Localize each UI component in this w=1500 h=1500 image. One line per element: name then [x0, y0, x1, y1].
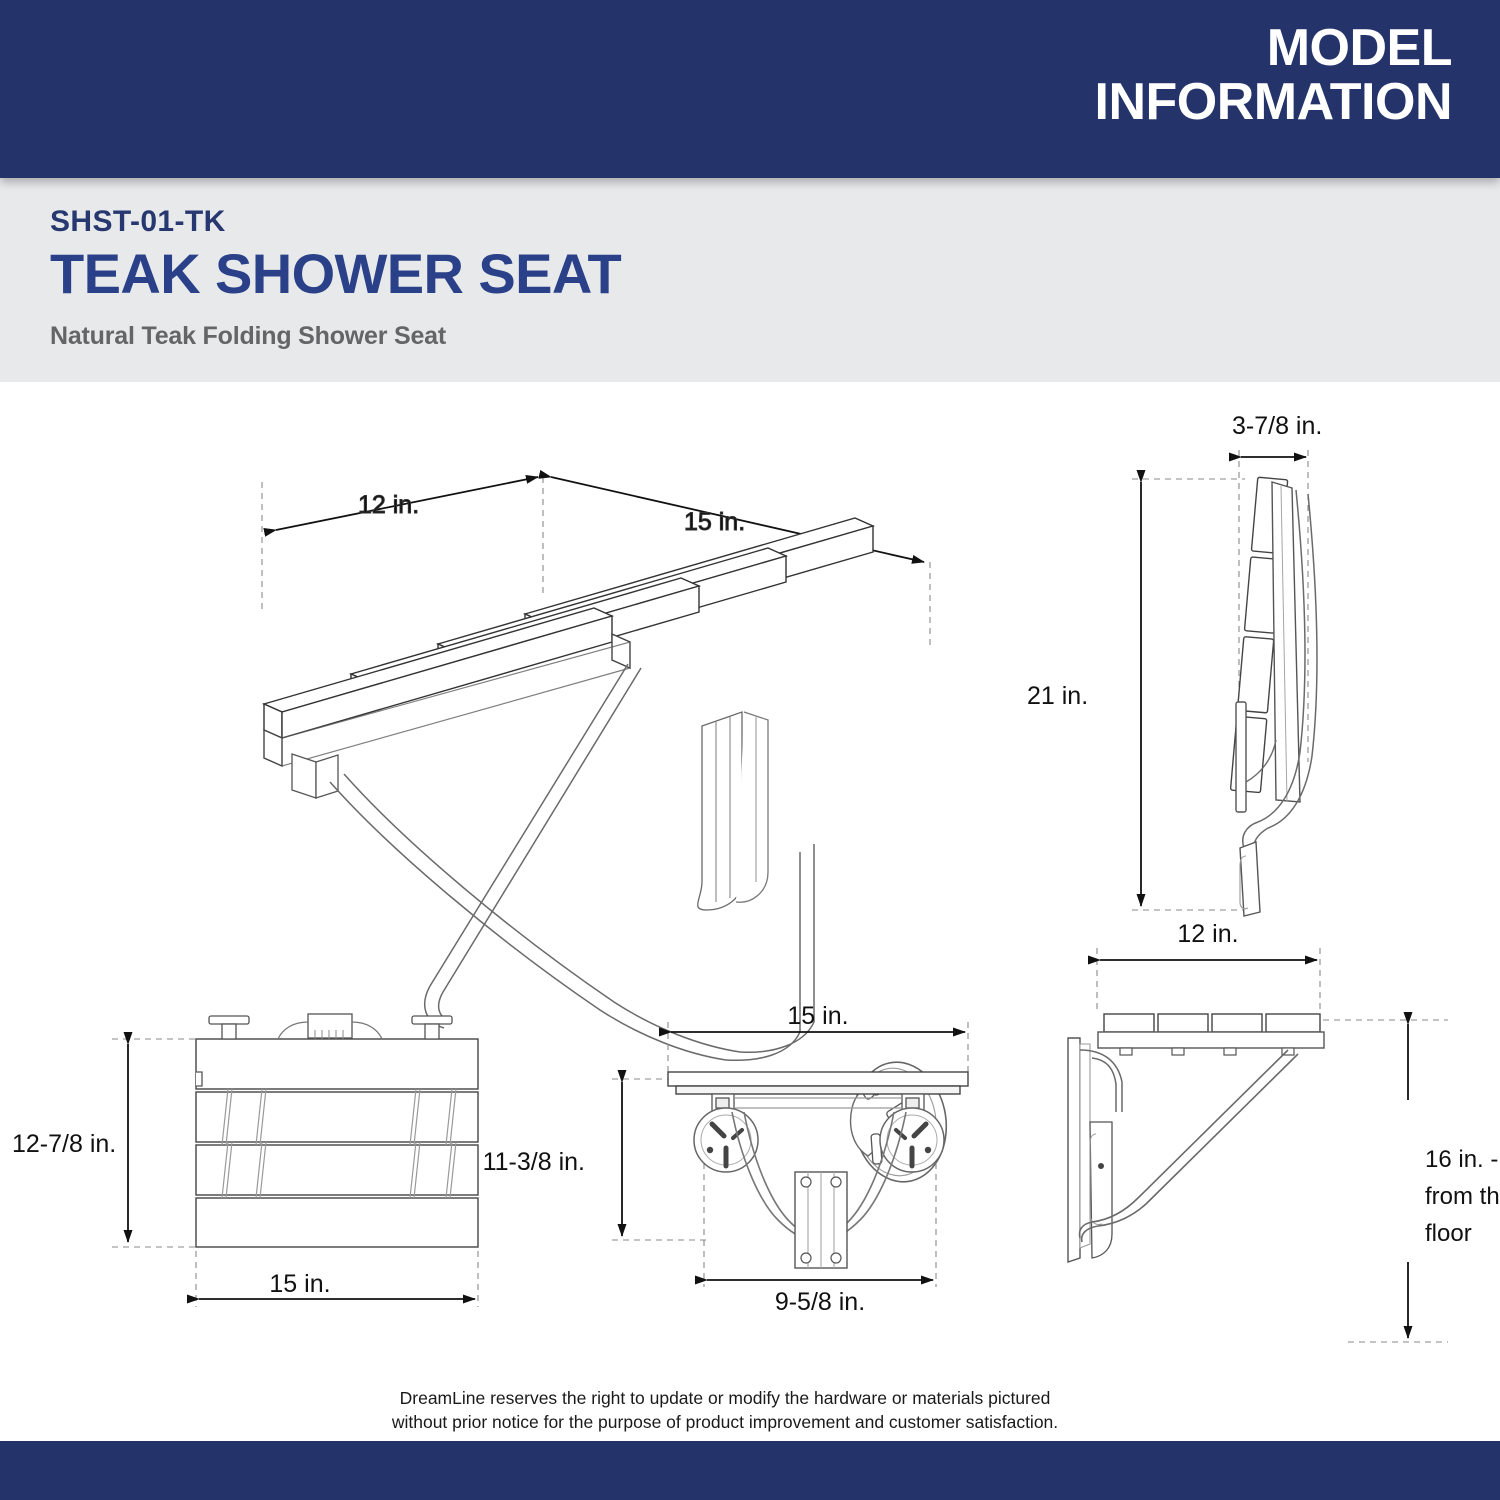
- side-floor-label-line1: 16 in. - 20 in.: [1425, 1146, 1500, 1173]
- disclaimer-line2: without prior notice for the purpose of …: [0, 1410, 1450, 1434]
- front-bracket-spacing-label: 9-5/8 in.: [775, 1288, 865, 1316]
- side-view: 12 in. 16 in. - 20 in. from the floor: [1068, 920, 1500, 1342]
- top-width-label: 15 in.: [269, 1270, 330, 1298]
- disclaimer: DreamLine reserves the right to update o…: [0, 1386, 1500, 1434]
- drawing-canvas: 12 in. 15 in.: [0, 382, 1500, 1440]
- spec-sheet-page: MODEL INFORMATION SHST-01-TK TEAK SHOWER…: [0, 0, 1500, 1500]
- folded-height-label: 21 in.: [1027, 682, 1088, 710]
- front-width-label: 15 in.: [787, 1002, 848, 1030]
- top-height-label: 12-7/8 in.: [12, 1130, 116, 1158]
- side-floor-label-line3: floor: [1425, 1220, 1472, 1247]
- iso-width-label: 15 in.: [684, 508, 745, 536]
- product-name: TEAK SHOWER SEAT: [50, 243, 621, 305]
- folded-side-view: 3-7/8 in. 21 in.: [1027, 412, 1322, 916]
- folded-thickness-label: 3-7/8 in.: [1232, 412, 1322, 440]
- page-title: MODEL INFORMATION: [1095, 22, 1452, 129]
- footer-bar: [0, 1441, 1500, 1500]
- header-title-line1: MODEL: [1267, 19, 1452, 77]
- product-description: Natural Teak Folding Shower Seat: [50, 322, 446, 351]
- disclaimer-line1: DreamLine reserves the right to update o…: [0, 1386, 1450, 1410]
- iso-depth-label: 12 in.: [358, 491, 419, 519]
- side-floor-label-line2: from the: [1425, 1183, 1500, 1210]
- header-bar: MODEL INFORMATION: [0, 0, 1500, 178]
- product-sku: SHST-01-TK: [50, 205, 226, 239]
- top-view: 12-7/8 in. 15 in.: [12, 1014, 478, 1307]
- front-height-label: 11-3/8 in.: [483, 1148, 585, 1176]
- side-depth-label: 12 in.: [1177, 920, 1238, 948]
- header-title-line2: INFORMATION: [1095, 76, 1452, 130]
